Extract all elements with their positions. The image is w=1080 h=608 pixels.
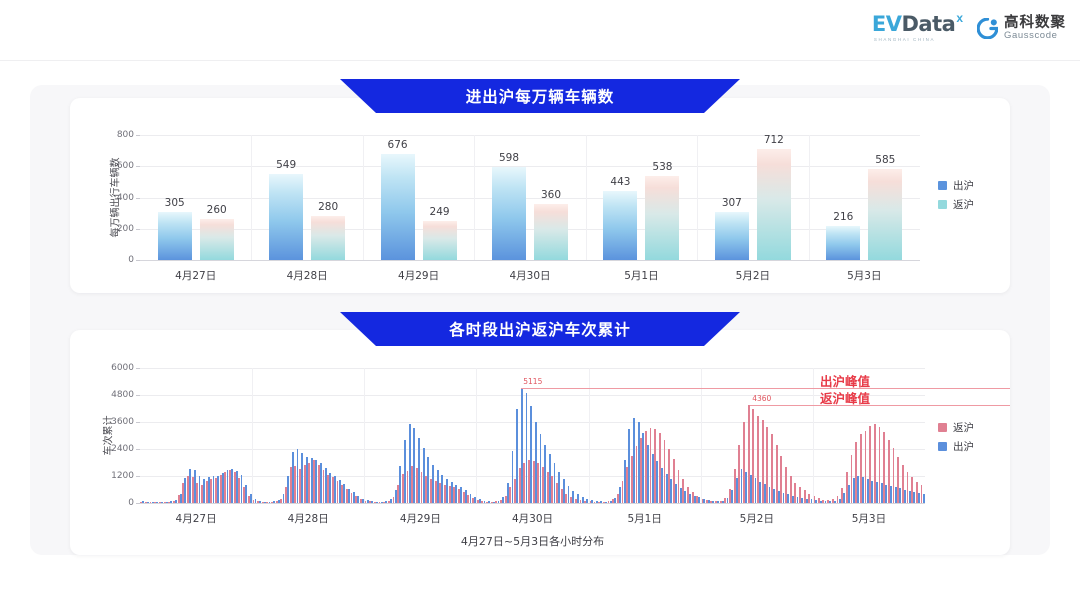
- peak-value-返沪峰值: 4360: [752, 394, 771, 403]
- category-separator: [251, 135, 252, 260]
- hourly-bar-back: [388, 501, 390, 503]
- x-axis-tick-4月29日: 4月29日: [400, 511, 441, 526]
- hourly-bar-back: [659, 433, 661, 503]
- legend-swatch-返沪: [938, 423, 947, 432]
- hourly-bar-back: [622, 481, 624, 503]
- hourly-bar-back: [911, 477, 913, 503]
- hourly-bar-back: [495, 501, 497, 503]
- gausscode-logo-cn: 高科数聚: [1004, 16, 1066, 31]
- hourly-bar-back: [594, 502, 596, 503]
- gridline: [140, 229, 920, 230]
- hourly-bar-back: [561, 489, 563, 503]
- y-axis-tick-mark: [136, 395, 140, 396]
- hourly-bar-back: [654, 429, 656, 503]
- hourly-bar-back: [738, 445, 740, 504]
- hourly-bar-back: [528, 460, 530, 503]
- hourly-bar-back: [710, 501, 712, 503]
- daily-chart-legend: 出沪返沪: [938, 178, 974, 212]
- hourly-bar-back: [210, 479, 212, 503]
- hourly-bar-back: [734, 469, 736, 503]
- category-separator: [586, 135, 587, 260]
- y-axis-tick-mark: [136, 449, 140, 450]
- bar-value-label: 280: [318, 201, 338, 213]
- gridline: [140, 368, 925, 369]
- hourly-bar-back: [294, 466, 296, 503]
- daily-bar-chart: 0200400600800每万辆出行车辆数3052604月27日5492804月…: [140, 135, 920, 260]
- hourly-bar-back: [855, 442, 857, 503]
- hourly-bar-back: [608, 501, 610, 503]
- chart-title-banner-hourly: 各时段出沪返沪车次累计: [340, 312, 740, 346]
- hourly-bar-back: [206, 481, 208, 503]
- hourly-bar-back: [822, 500, 824, 503]
- hourly-bar-back: [612, 499, 614, 503]
- category-separator: [697, 135, 698, 260]
- hourly-bar-back: [140, 502, 142, 503]
- hourly-bar-back: [748, 405, 750, 503]
- hourly-bar-back: [463, 492, 465, 503]
- bar-出沪-4月27日: [158, 212, 192, 260]
- hourly-bar-back: [439, 483, 441, 503]
- hourly-bar-back: [808, 494, 810, 503]
- bar-出沪-4月29日: [381, 154, 415, 260]
- hourly-bar-back: [449, 486, 451, 503]
- hourly-bar-back: [337, 481, 339, 504]
- hourly-bar-back: [192, 477, 194, 503]
- bar-出沪-5月2日: [715, 212, 749, 260]
- hourly-bar-back: [743, 422, 745, 503]
- hourly-bar-back: [299, 469, 301, 503]
- peak-line-出沪峰值: [521, 388, 1010, 389]
- hourly-bar-back: [229, 470, 231, 503]
- hourly-bar-back: [187, 476, 189, 503]
- hourly-bar-back: [790, 476, 792, 503]
- hourly-bar-back: [729, 489, 731, 503]
- hourly-bar-back: [818, 498, 820, 503]
- x-axis-tick-4月28日: 4月28日: [287, 268, 328, 283]
- hourly-bar-back: [837, 496, 839, 503]
- x-axis-tick-4月30日: 4月30日: [509, 268, 550, 283]
- hourly-bar-back: [243, 487, 245, 503]
- hourly-bar-back: [453, 487, 455, 503]
- hourly-bar-back: [860, 434, 862, 503]
- y-axis-tick: 3600: [111, 417, 134, 427]
- hourly-bar-back: [150, 502, 152, 503]
- hourly-bar-back: [224, 472, 226, 504]
- hourly-bar-back: [271, 502, 273, 503]
- category-separator: [363, 135, 364, 260]
- hourly-bar-back: [318, 465, 320, 503]
- hourly-bar-back: [865, 431, 867, 503]
- hourly-bar-back: [383, 502, 385, 503]
- evdata-logo-superscript-icon: x: [956, 12, 963, 24]
- hourly-bar-back: [421, 472, 423, 503]
- gridline: [140, 395, 925, 396]
- bar-value-label: 249: [430, 206, 450, 218]
- bar-返沪-4月27日: [200, 219, 234, 260]
- bar-value-label: 305: [165, 197, 185, 209]
- gridline: [140, 422, 925, 423]
- hourly-bar-back: [584, 501, 586, 503]
- hourly-bar-back: [346, 489, 348, 503]
- hourly-bar-back: [907, 472, 909, 504]
- bar-出沪-5月3日: [826, 226, 860, 260]
- evdata-logo-tagline: SHANGHAI CHINA: [874, 38, 935, 43]
- logo-group: EV Data x SHANGHAI CHINA 高科数聚 Gausscode: [872, 14, 1066, 43]
- hourly-bar-back: [178, 495, 180, 503]
- hourly-bar-back: [617, 494, 619, 503]
- hourly-bar-back: [472, 498, 474, 503]
- hourly-bar-back: [435, 481, 437, 503]
- hourly-bar-back: [752, 409, 754, 503]
- hourly-bar-back: [308, 463, 310, 504]
- hourly-bar-back: [173, 501, 175, 503]
- hourly-bar-back: [280, 499, 282, 504]
- category-separator: [476, 368, 477, 503]
- hourly-bar-back: [598, 502, 600, 503]
- hourly-bar-back: [706, 500, 708, 503]
- bar-value-label: 307: [722, 197, 742, 209]
- hourly-bar-back: [220, 475, 222, 503]
- hourly-bar-back: [514, 479, 516, 503]
- legend-item-返沪[interactable]: 返沪: [938, 420, 974, 435]
- bar-value-label: 712: [764, 134, 784, 146]
- bar-出沪-5月1日: [603, 191, 637, 260]
- hourly-bar-back: [481, 501, 483, 503]
- peak-label-返沪峰值: 返沪峰值: [820, 388, 870, 407]
- hourly-bar-back: [393, 497, 395, 503]
- hourly-bar-back: [407, 471, 409, 503]
- hourly-bar-back: [262, 502, 264, 503]
- x-axis-tick-4月28日: 4月28日: [288, 511, 329, 526]
- hourly-bar-back: [523, 463, 525, 504]
- gridline: [140, 449, 925, 450]
- hourly-bar-back: [794, 483, 796, 503]
- bar-返沪-4月30日: [534, 204, 568, 260]
- bar-value-label: 585: [875, 154, 895, 166]
- legend-swatch-返沪: [938, 200, 947, 209]
- hourly-bar-back: [827, 500, 829, 503]
- hourly-bar-back: [285, 487, 287, 503]
- legend-label-出沪: 出沪: [953, 178, 974, 193]
- hourly-bar-back: [467, 495, 469, 503]
- hourly-bar-back: [182, 483, 184, 503]
- bar-返沪-4月29日: [423, 221, 457, 260]
- x-axis-tick-4月27日: 4月27日: [175, 268, 216, 283]
- hourly-bar-back: [266, 502, 268, 503]
- y-axis-tick: 800: [117, 130, 134, 140]
- gausscode-logo: 高科数聚 Gausscode: [977, 16, 1066, 41]
- gridline: [140, 166, 920, 167]
- hourly-bar-back: [351, 493, 353, 503]
- hourly-bar-back: [715, 501, 717, 503]
- hourly-bar-back: [785, 467, 787, 503]
- hourly-bar-back: [687, 487, 689, 503]
- bar-value-label: 598: [499, 152, 519, 164]
- x-axis-tick-5月3日: 5月3日: [847, 268, 881, 283]
- hourly-bar-back: [374, 502, 376, 503]
- hourly-bar-out: [923, 494, 925, 503]
- hourly-bar-back: [369, 501, 371, 503]
- hourly-bar-back: [238, 478, 240, 503]
- hourly-bar-back: [533, 461, 535, 503]
- hourly-bar-back: [509, 487, 511, 503]
- y-axis-tick-mark: [136, 229, 140, 230]
- hourly-bar-back: [500, 500, 502, 503]
- hourly-bar-back: [832, 499, 834, 503]
- hourly-bar-back: [248, 496, 250, 503]
- hourly-bar-back: [776, 445, 778, 504]
- hourly-bar-back: [799, 487, 801, 503]
- hourly-bar-back: [164, 502, 166, 503]
- hourly-bar-back: [537, 463, 539, 503]
- hourly-bar-back: [902, 465, 904, 503]
- hourly-bar-back: [304, 465, 306, 503]
- hourly-bar-back: [720, 501, 722, 503]
- hourly-bar-back: [313, 460, 315, 503]
- gausscode-mark-icon: [977, 18, 998, 39]
- peak-value-出沪峰值: 5115: [523, 377, 542, 386]
- y-axis-label: 车次累计: [100, 395, 115, 475]
- gridline: [140, 135, 920, 136]
- category-separator: [809, 135, 810, 260]
- hourly-bar-back: [879, 427, 881, 503]
- hourly-bar-back: [402, 474, 404, 503]
- bar-返沪-5月3日: [868, 169, 902, 260]
- bar-value-label: 538: [652, 161, 672, 173]
- hourly-bar-chart: 012002400360048006000车次累计4月27日4月28日4月29日…: [140, 368, 925, 503]
- hourly-bar-back: [575, 499, 577, 504]
- hourly-bar-back: [565, 494, 567, 503]
- y-axis-tick-mark: [136, 422, 140, 423]
- legend-label-返沪: 返沪: [953, 197, 974, 212]
- hourly-bar-back: [257, 501, 259, 503]
- bar-value-label: 216: [833, 211, 853, 223]
- hourly-bar-back: [505, 496, 507, 503]
- hourly-bar-back: [196, 483, 198, 503]
- gausscode-logo-en: Gausscode: [1004, 31, 1066, 41]
- hourly-bar-back: [780, 456, 782, 503]
- hourly-bar-back: [360, 499, 362, 503]
- dashboard-page: EV Data x SHANGHAI CHINA 高科数聚 Gausscode: [0, 0, 1080, 608]
- hourly-bar-back: [397, 485, 399, 503]
- evdata-logo-primary: EV: [872, 14, 902, 35]
- hourly-bar-back: [570, 497, 572, 503]
- hourly-bar-back: [897, 457, 899, 503]
- hourly-bar-back: [682, 479, 684, 503]
- x-axis-tick-4月29日: 4月29日: [398, 268, 439, 283]
- hourly-chart-legend: 返沪出沪: [938, 420, 974, 454]
- hourly-bar-back: [893, 448, 895, 503]
- y-axis-tick: 0: [128, 498, 134, 508]
- hourly-bar-back: [556, 483, 558, 503]
- hourly-bar-back: [692, 492, 694, 503]
- hourly-bar-back: [551, 476, 553, 503]
- x-axis-tick-4月27日: 4月27日: [176, 511, 217, 526]
- y-axis-tick: 6000: [111, 363, 134, 373]
- hourly-bar-back: [341, 485, 343, 503]
- gridline: [140, 198, 920, 199]
- hourly-bar-back: [766, 427, 768, 504]
- y-axis-tick-mark: [136, 368, 140, 369]
- hourly-bar-back: [757, 416, 759, 503]
- hourly-bar-back: [215, 478, 217, 503]
- hourly-bar-back: [874, 424, 876, 503]
- y-axis-tick-mark: [136, 476, 140, 477]
- hourly-bar-back: [724, 498, 726, 503]
- y-axis-tick: 2400: [111, 444, 134, 454]
- x-axis-tick-5月2日: 5月2日: [740, 511, 774, 526]
- hourly-bar-back: [290, 467, 292, 503]
- bar-value-label: 443: [610, 176, 630, 188]
- hourly-bar-back: [327, 475, 329, 503]
- hourly-bar-back: [883, 432, 885, 503]
- legend-label-出沪: 出沪: [953, 439, 974, 454]
- hourly-bar-back: [869, 426, 871, 503]
- legend-item-返沪[interactable]: 返沪: [938, 197, 974, 212]
- hourly-bar-back: [696, 496, 698, 503]
- category-separator: [252, 368, 253, 503]
- category-separator: [474, 135, 475, 260]
- bar-出沪-4月30日: [492, 167, 526, 260]
- chart-title-hourly: 各时段出沪返沪车次累计: [449, 318, 631, 340]
- hourly-bar-back: [542, 467, 544, 503]
- hourly-bar-back: [323, 470, 325, 503]
- hourly-bar-back: [411, 466, 413, 503]
- hourly-bar-back: [804, 490, 806, 503]
- hourly-bar-back: [444, 485, 446, 503]
- hourly-bar-back: [916, 482, 918, 503]
- x-axis-tick-5月1日: 5月1日: [624, 268, 658, 283]
- hourly-bar-back: [201, 485, 203, 503]
- hourly-bar-back: [636, 446, 638, 503]
- hourly-bar-back: [379, 502, 381, 503]
- chart-title-daily: 进出沪每万辆车辆数: [466, 85, 615, 107]
- header-divider: [0, 60, 1080, 61]
- y-axis-tick-mark: [136, 135, 140, 136]
- hourly-bar-back: [234, 472, 236, 503]
- bar-value-label: 549: [276, 159, 296, 171]
- evdata-logo: EV Data x SHANGHAI CHINA: [872, 14, 963, 43]
- hourly-bar-back: [159, 502, 161, 503]
- hourly-bar-back: [846, 472, 848, 504]
- hourly-bar-back: [430, 479, 432, 503]
- bar-出沪-4月28日: [269, 174, 303, 260]
- hourly-bar-back: [650, 428, 652, 503]
- hourly-bar-back: [425, 476, 427, 503]
- hourly-bar-back: [580, 500, 582, 503]
- hourly-bar-back: [841, 488, 843, 503]
- chart-title-banner-daily: 进出沪每万辆车辆数: [340, 79, 740, 113]
- y-axis-tick: 1200: [111, 471, 134, 481]
- hourly-bar-back: [154, 502, 156, 503]
- hourly-bar-back: [332, 477, 334, 503]
- hourly-bar-back: [645, 431, 647, 503]
- y-axis-tick: 4800: [111, 390, 134, 400]
- x-axis-tick-5月3日: 5月3日: [852, 511, 886, 526]
- bar-value-label: 360: [541, 189, 561, 201]
- x-axis-tick-5月2日: 5月2日: [736, 268, 770, 283]
- hourly-bar-back: [664, 440, 666, 503]
- bar-value-label: 260: [207, 204, 227, 216]
- hourly-bar-back: [416, 468, 418, 503]
- bar-value-label: 676: [388, 139, 408, 151]
- hourly-bar-back: [145, 502, 147, 503]
- hourly-bar-back: [519, 468, 521, 503]
- x-axis-line: [140, 503, 925, 504]
- x-axis-caption: 4月27日~5月3日各小时分布: [461, 533, 604, 549]
- y-axis-tick-mark: [136, 166, 140, 167]
- y-axis-tick: 0: [128, 255, 134, 265]
- x-axis-tick-4月30日: 4月30日: [512, 511, 553, 526]
- hourly-bar-back: [626, 467, 628, 503]
- hourly-bar-back: [678, 470, 680, 503]
- evdata-logo-secondary: Data: [902, 14, 956, 35]
- hourly-bar-back: [168, 502, 170, 503]
- y-axis-label: 每万辆出行车辆数: [107, 147, 122, 247]
- legend-item-出沪[interactable]: 出沪: [938, 439, 974, 454]
- legend-swatch-出沪: [938, 181, 947, 190]
- hourly-bar-back: [668, 449, 670, 503]
- bar-返沪-5月2日: [757, 149, 791, 260]
- hourly-bar-back: [640, 438, 642, 503]
- hourly-bar-back: [603, 502, 605, 503]
- legend-label-返沪: 返沪: [953, 420, 974, 435]
- bar-返沪-5月1日: [645, 176, 679, 260]
- bar-返沪-4月28日: [311, 216, 345, 260]
- hourly-bar-back: [355, 496, 357, 503]
- hourly-bar-back: [851, 455, 853, 503]
- page-header: EV Data x SHANGHAI CHINA 高科数聚 Gausscode: [0, 0, 1080, 62]
- hourly-bar-back: [921, 485, 923, 503]
- hourly-bar-back: [631, 456, 633, 503]
- hourly-bar-back: [276, 501, 278, 503]
- hourly-bar-back: [673, 459, 675, 503]
- hourly-bar-back: [491, 502, 493, 503]
- hourly-bar-back: [486, 502, 488, 503]
- hourly-bar-back: [762, 420, 764, 503]
- legend-swatch-出沪: [938, 442, 947, 451]
- hourly-bar-back: [771, 434, 773, 503]
- hourly-bar-back: [458, 489, 460, 503]
- peak-line-返沪峰值: [750, 405, 1010, 406]
- x-axis-line: [140, 260, 920, 261]
- hourly-bar-back: [888, 440, 890, 503]
- y-axis-tick-mark: [136, 198, 140, 199]
- x-axis-tick-5月1日: 5月1日: [627, 511, 661, 526]
- category-separator: [364, 368, 365, 503]
- legend-item-出沪[interactable]: 出沪: [938, 178, 974, 193]
- hourly-bar-back: [547, 472, 549, 504]
